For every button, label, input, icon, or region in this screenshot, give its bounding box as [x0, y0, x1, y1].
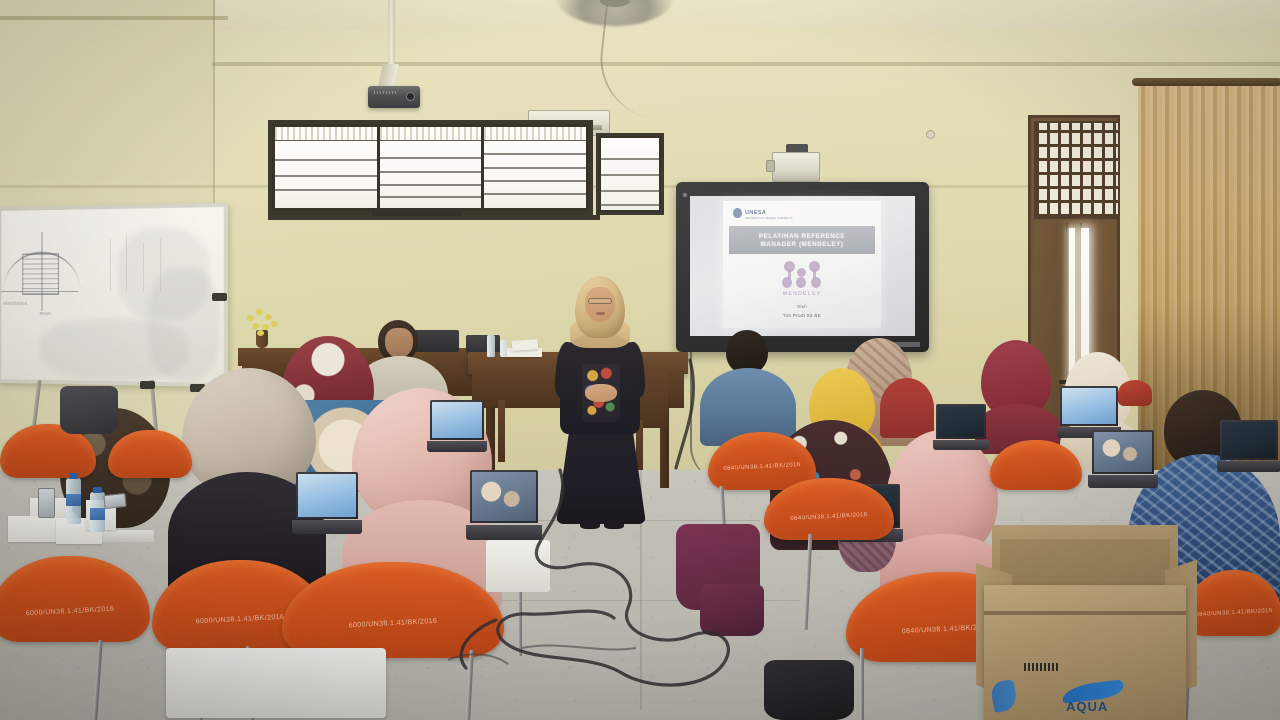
box-barcode-icon — [1024, 663, 1058, 671]
wall-trim-top — [0, 16, 228, 20]
whiteboard-clip — [212, 293, 227, 301]
unesa-logo-icon — [733, 208, 742, 218]
whiteboard-histogram — [22, 253, 59, 295]
chair-asset-tag: 0840/UN38.1.41/BK/2016 — [708, 461, 816, 473]
wall-fixture — [926, 130, 935, 139]
projector-mount-pole — [388, 0, 395, 72]
whiteboard[interactable]: distribution mean — [0, 203, 228, 387]
board-display-surface[interactable]: UNESA UNIVERSITAS NEGERI SURABAYA PELATI… — [690, 196, 915, 336]
box-seam — [984, 611, 1186, 615]
laptop[interactable] — [296, 472, 358, 534]
aqua-wordmark: AQUA — [1066, 699, 1108, 714]
window-pane — [484, 127, 586, 208]
bottle-label — [66, 494, 81, 506]
classroom-photo: distribution mean UNESA UNIVERSITAS NEGE… — [0, 0, 1280, 720]
chair-asset-tag: 6000/UN38.1.41/BK/2016 — [282, 614, 504, 633]
interactive-whiteboard[interactable]: UNESA UNIVERSITAS NEGERI SURABAYA PELATI… — [676, 182, 929, 352]
backpack-maroon-lower — [700, 584, 764, 636]
presenter-skirt — [556, 422, 646, 524]
slide-title-line2: MANAGER (MENDELEY) — [761, 241, 844, 248]
whiteboard-clip — [140, 381, 155, 389]
bottle-label — [90, 508, 105, 520]
presenter-mouth — [596, 312, 605, 315]
smartphone[interactable] — [38, 488, 55, 518]
door-transom-grille — [1034, 121, 1120, 219]
board-power-led-icon — [683, 193, 687, 197]
slide-title-banner: PELATIHAN REFERENCE MANAGER (MENDELEY) — [729, 226, 875, 254]
snack-box — [8, 516, 56, 542]
laptop[interactable] — [936, 404, 986, 450]
short-throw-projector — [772, 152, 820, 182]
aqua-logo-icon: AQUA — [1062, 683, 1124, 707]
slide-presenter-credit: Tim Prodi S2 BK — [783, 313, 821, 318]
wall-trim-horizontal — [212, 62, 1280, 66]
chair-asset-tag: 0840/UN38.1.41/BK/2016 — [1186, 607, 1280, 618]
bottle-cap-icon — [69, 473, 78, 479]
window-pane — [275, 127, 377, 208]
laptop[interactable] — [430, 400, 484, 452]
curtain-rod — [1132, 78, 1280, 86]
presenter-standing — [544, 276, 656, 538]
yellow-flowers — [243, 305, 283, 335]
window-bar — [372, 210, 462, 216]
smartphone[interactable] — [103, 493, 126, 509]
desk-bottle — [487, 335, 495, 357]
bottle-cap-icon — [93, 487, 102, 493]
aqua-side-logo-icon — [990, 679, 1019, 713]
cardboard-box: AQUA — [978, 525, 1193, 720]
chair-asset-tag: 6000/UN38.1.41/BK/2016 — [0, 604, 150, 619]
writing-tablet-arm — [486, 540, 550, 592]
water-bottle — [66, 478, 81, 524]
writing-tablet-arm — [166, 648, 386, 718]
presenter-shoe — [580, 520, 600, 529]
glasses-icon — [588, 298, 612, 304]
whiteboard-label-mean: mean — [40, 312, 51, 317]
desk-papers — [512, 339, 539, 351]
presenter-hands — [585, 384, 617, 402]
box-front-panel: AQUA — [984, 585, 1186, 720]
laptop[interactable] — [470, 470, 538, 540]
window-small — [596, 133, 664, 215]
chair-leg — [860, 648, 864, 720]
bag-grey — [60, 386, 118, 434]
unesa-subtitle: UNIVERSITAS NEGERI SURABAYA — [745, 217, 793, 220]
slide-title-line1: PELATIHAN REFERENCE — [759, 233, 845, 240]
presentation-slide: UNESA UNIVERSITAS NEGERI SURABAYA PELATI… — [723, 201, 881, 328]
desk-bottle — [500, 340, 507, 357]
window-pane — [380, 127, 482, 208]
whiteboard-label-distribution: distribution — [3, 302, 27, 307]
mendeley-wordmark: MENDELEY — [783, 291, 822, 297]
laptop[interactable] — [1092, 430, 1154, 488]
laptop[interactable] — [1220, 420, 1278, 472]
projector-lens-icon — [406, 92, 415, 101]
slide-by-label: Oleh — [797, 304, 807, 309]
chair-asset-tag: 0840/UN38.1.41/BK/2016 — [764, 511, 894, 524]
participant-red-cap — [1118, 380, 1152, 406]
bag-dark — [764, 660, 854, 720]
mendeley-logo-icon — [780, 261, 824, 289]
presenter-shoe — [604, 520, 624, 529]
projector-vent-icon — [374, 91, 396, 94]
ceiling-projector — [368, 86, 420, 108]
presenter-face — [585, 287, 615, 322]
window-bank — [268, 120, 593, 215]
unesa-wordmark: UNESA — [745, 210, 766, 216]
projector-lens-icon — [766, 160, 775, 172]
